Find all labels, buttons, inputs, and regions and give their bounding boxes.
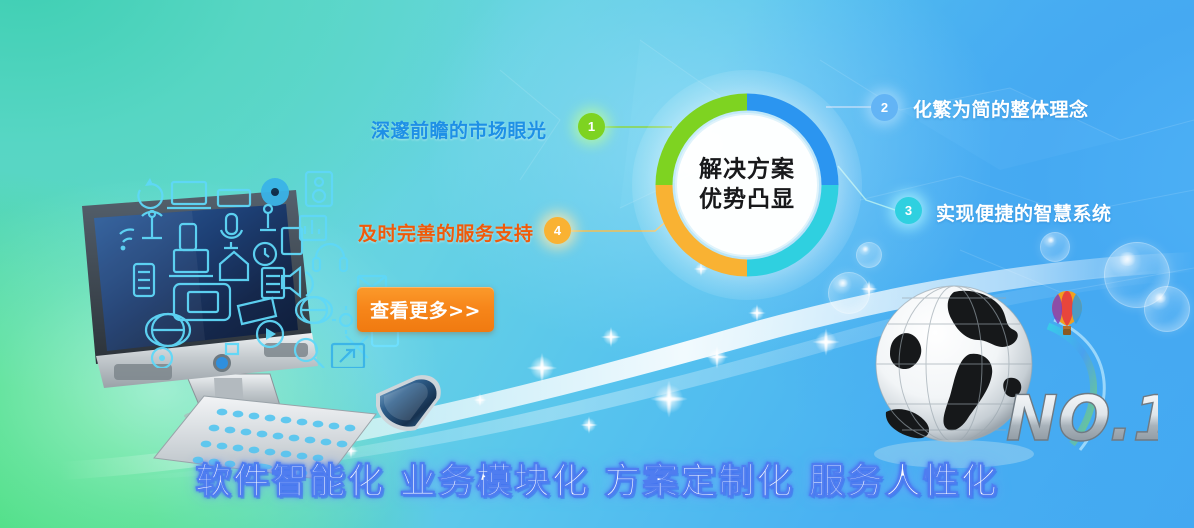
- callout-badge-3[interactable]: 3: [895, 197, 922, 224]
- callout-label-2: 化繁为简的整体理念: [913, 95, 1089, 122]
- donut-center-label: 解决方案 优势凸显: [648, 155, 846, 216]
- bottom-tagline: 软件智能化 业务模块化 方案定制化 服务人性化: [0, 452, 1194, 504]
- callout-badge-2[interactable]: 2: [871, 94, 898, 121]
- view-more-button[interactable]: 查看更多>>: [357, 287, 494, 332]
- globe-icon: NO.1: [858, 268, 1158, 478]
- callout-label-3: 实现便捷的智慧系统: [936, 199, 1112, 226]
- bubble: [856, 242, 882, 268]
- computer-mouse-icon: [370, 372, 450, 434]
- center-line-1: 解决方案: [648, 155, 846, 185]
- badge-3-number: 3: [905, 203, 912, 218]
- badge-2-number: 2: [881, 100, 888, 115]
- donut-chart: 解决方案 优势凸显: [648, 86, 846, 284]
- svg-text:NO.1: NO.1: [1006, 382, 1158, 455]
- hot-air-balloon-icon: [1050, 290, 1084, 336]
- badge-4-number: 4: [554, 223, 561, 238]
- bubble: [1040, 232, 1070, 262]
- callout-label-4: 及时完善的服务支持: [358, 219, 534, 246]
- promo-banner: NO.1: [0, 0, 1194, 528]
- center-line-2: 优势凸显: [648, 185, 846, 215]
- callout-label-1: 深邃前瞻的市场眼光: [371, 116, 547, 143]
- badge-1-number: 1: [588, 119, 595, 134]
- callout-badge-4[interactable]: 4: [544, 217, 571, 244]
- callout-badge-1[interactable]: 1: [578, 113, 605, 140]
